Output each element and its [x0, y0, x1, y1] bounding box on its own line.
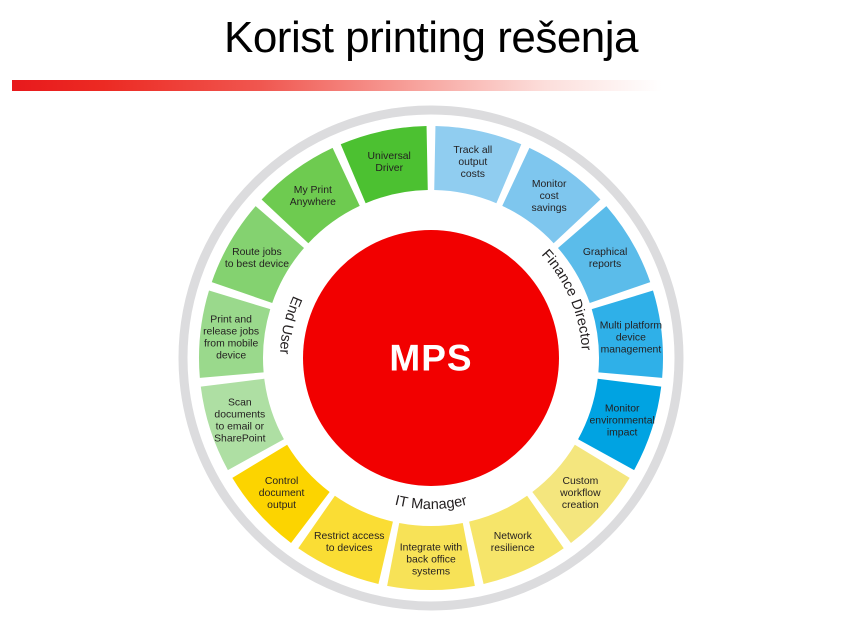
title-block: Korist printing rešenja	[0, 14, 862, 62]
center-label: MPS	[389, 338, 472, 379]
mps-benefits-wheel: UniversalDriverTrack alloutputcostsMonit…	[0, 96, 862, 644]
wheel-svg: UniversalDriverTrack alloutputcostsMonit…	[151, 96, 711, 636]
role-label-text-end-user: End User	[276, 294, 305, 355]
page-title: Korist printing rešenja	[0, 14, 862, 62]
segment-label-route-jobs-to-best-device: Route jobsto best device	[225, 247, 289, 270]
center-hub: MPS	[303, 230, 559, 486]
segment-label-custom-workflow-creation: Customworkflowcreation	[559, 476, 601, 511]
title-underline-bar	[12, 80, 662, 91]
segment-label-my-print-anywhere: My PrintAnywhere	[290, 185, 336, 208]
slide-canvas: Korist printing rešenja UniversalDriverT…	[0, 0, 862, 644]
role-label-it-manager: IT Manager	[367, 493, 495, 513]
segment-label-graphical-reports: Graphicalreports	[583, 247, 627, 270]
role-label-text-it-manager: IT Manager	[393, 493, 468, 513]
segment-label-network-resilience: Networkresilience	[491, 531, 535, 554]
